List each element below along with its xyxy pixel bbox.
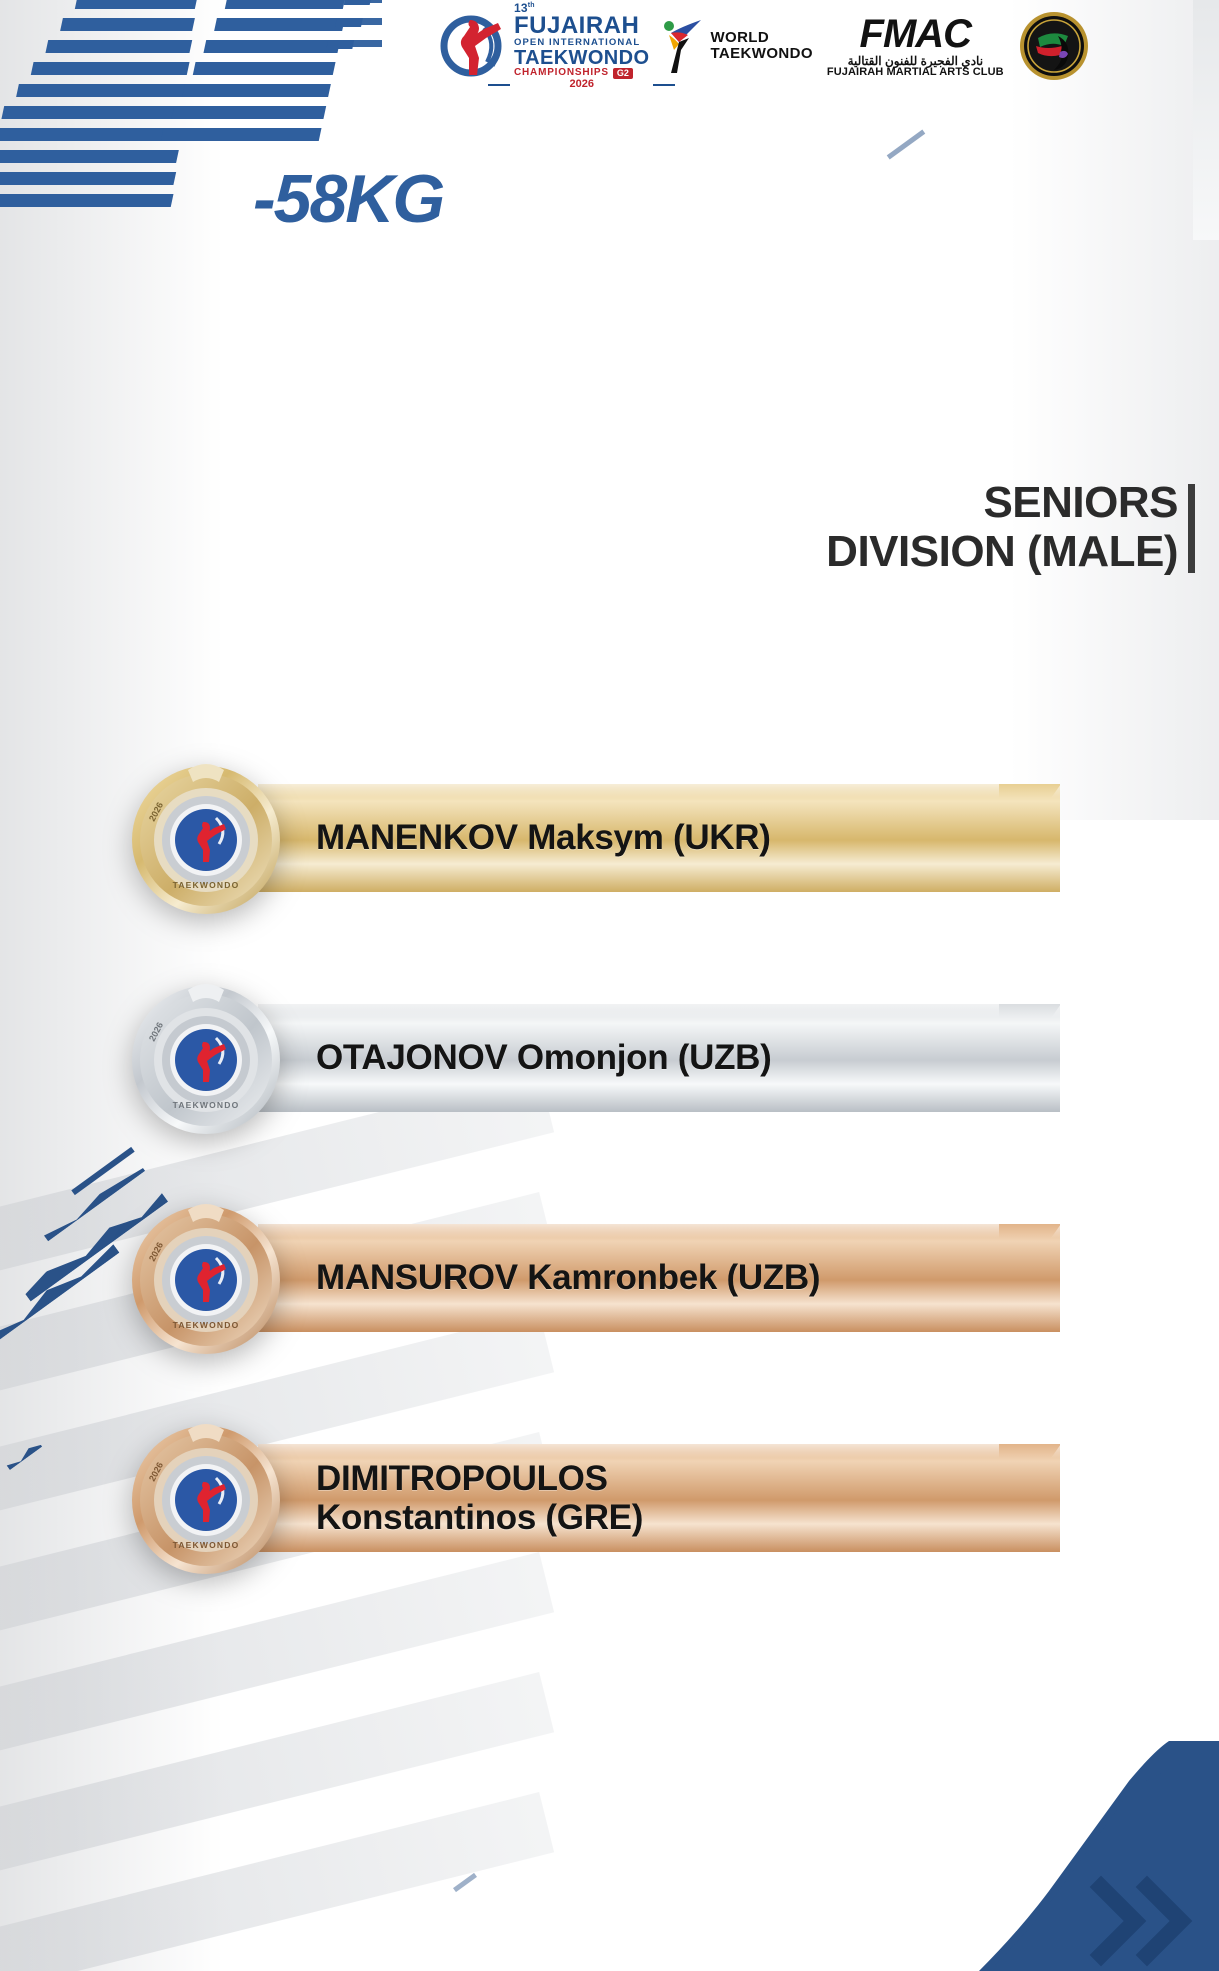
athlete-name: MANSUROV Kamronbek (UZB) <box>316 1258 820 1297</box>
taekwondo-kick-icon <box>440 12 508 80</box>
background-right-gradient <box>919 0 1219 820</box>
fujairah-championship-logo: 13th FUJAIRAH OPEN INTERNATIONAL TAEKWON… <box>440 2 649 90</box>
division-title: SENIORS DIVISION (MALE) <box>826 478 1195 577</box>
medal-bronze: TAEKWONDO 2026 <box>128 1408 284 1584</box>
fmac-logo: FMAC نادي الفجيرة للفنون القتالية FUJAIR… <box>827 14 1004 78</box>
weight-category-title: -58KG <box>253 160 443 238</box>
world-taekwondo-swoosh-icon <box>663 17 703 75</box>
event-grade-badge: G2 <box>613 68 633 79</box>
svg-text:TAEKWONDO: TAEKWONDO <box>173 1540 240 1550</box>
event-championships: CHAMPIONSHIPS <box>514 68 609 78</box>
athlete-name: MANENKOV Maksym (UKR) <box>316 818 771 857</box>
result-ribbon-bronze: DIMITROPOULOS Konstantinos (GRE) <box>258 1444 1060 1552</box>
event-discipline: TAEKWONDO <box>514 48 649 68</box>
header-logos: 13th FUJAIRAH OPEN INTERNATIONAL TAEKWON… <box>440 0 1211 92</box>
double-chevron-right-icon <box>979 1741 1219 1971</box>
result-row: OTAJONOV Omonjon (UZB) <box>0 960 1219 1180</box>
results-list: MANENKOV Maksym (UKR) <box>0 740 1219 1620</box>
svg-text:TAEKWONDO: TAEKWONDO <box>173 1320 240 1330</box>
event-year: 2026 <box>514 79 649 90</box>
medal-silver: TAEKWONDO 2026 <box>128 968 284 1144</box>
fmac-english-name: FUJAIRAH MARTIAL ARTS CLUB <box>827 67 1004 78</box>
result-ribbon-bronze: MANSUROV Kamronbek (UZB) <box>258 1224 1060 1332</box>
uae-taekwondo-federation-logo <box>1018 10 1090 82</box>
athlete-name: DIMITROPOULOS Konstantinos (GRE) <box>316 1459 643 1537</box>
division-line1: SENIORS <box>826 478 1178 527</box>
result-ribbon-gold: MANENKOV Maksym (UKR) <box>258 784 1060 892</box>
fmac-wordmark: FMAC <box>860 14 972 54</box>
edition-suffix: th <box>528 2 535 9</box>
world-taekwondo-line2: TAEKWONDO <box>710 46 812 62</box>
svg-text:TAEKWONDO: TAEKWONDO <box>173 880 240 890</box>
result-row: DIMITROPOULOS Konstantinos (GRE) TAEKWON… <box>0 1400 1219 1620</box>
result-row: MANSUROV Kamronbek (UZB) <box>0 1180 1219 1400</box>
event-name: FUJAIRAH <box>514 14 649 38</box>
corner-decoration <box>979 1741 1219 1971</box>
medal-gold: TAEKWONDO 2026 <box>128 748 284 924</box>
result-ribbon-silver: OTAJONOV Omonjon (UZB) <box>258 1004 1060 1112</box>
world-taekwondo-logo: WORLD TAEKWONDO <box>663 17 812 75</box>
results-poster: -58KG 13th FUJAIRAH OPEN INTERNATIONAL T… <box>0 0 1219 1971</box>
result-row: MANENKOV Maksym (UKR) <box>0 740 1219 960</box>
medal-bronze: TAEKWONDO 2026 <box>128 1188 284 1364</box>
division-rule <box>1188 484 1195 573</box>
world-taekwondo-line1: WORLD <box>710 30 812 46</box>
svg-text:TAEKWONDO: TAEKWONDO <box>173 1100 240 1110</box>
athlete-name: OTAJONOV Omonjon (UZB) <box>316 1038 772 1077</box>
division-line2: DIVISION (MALE) <box>826 527 1178 576</box>
